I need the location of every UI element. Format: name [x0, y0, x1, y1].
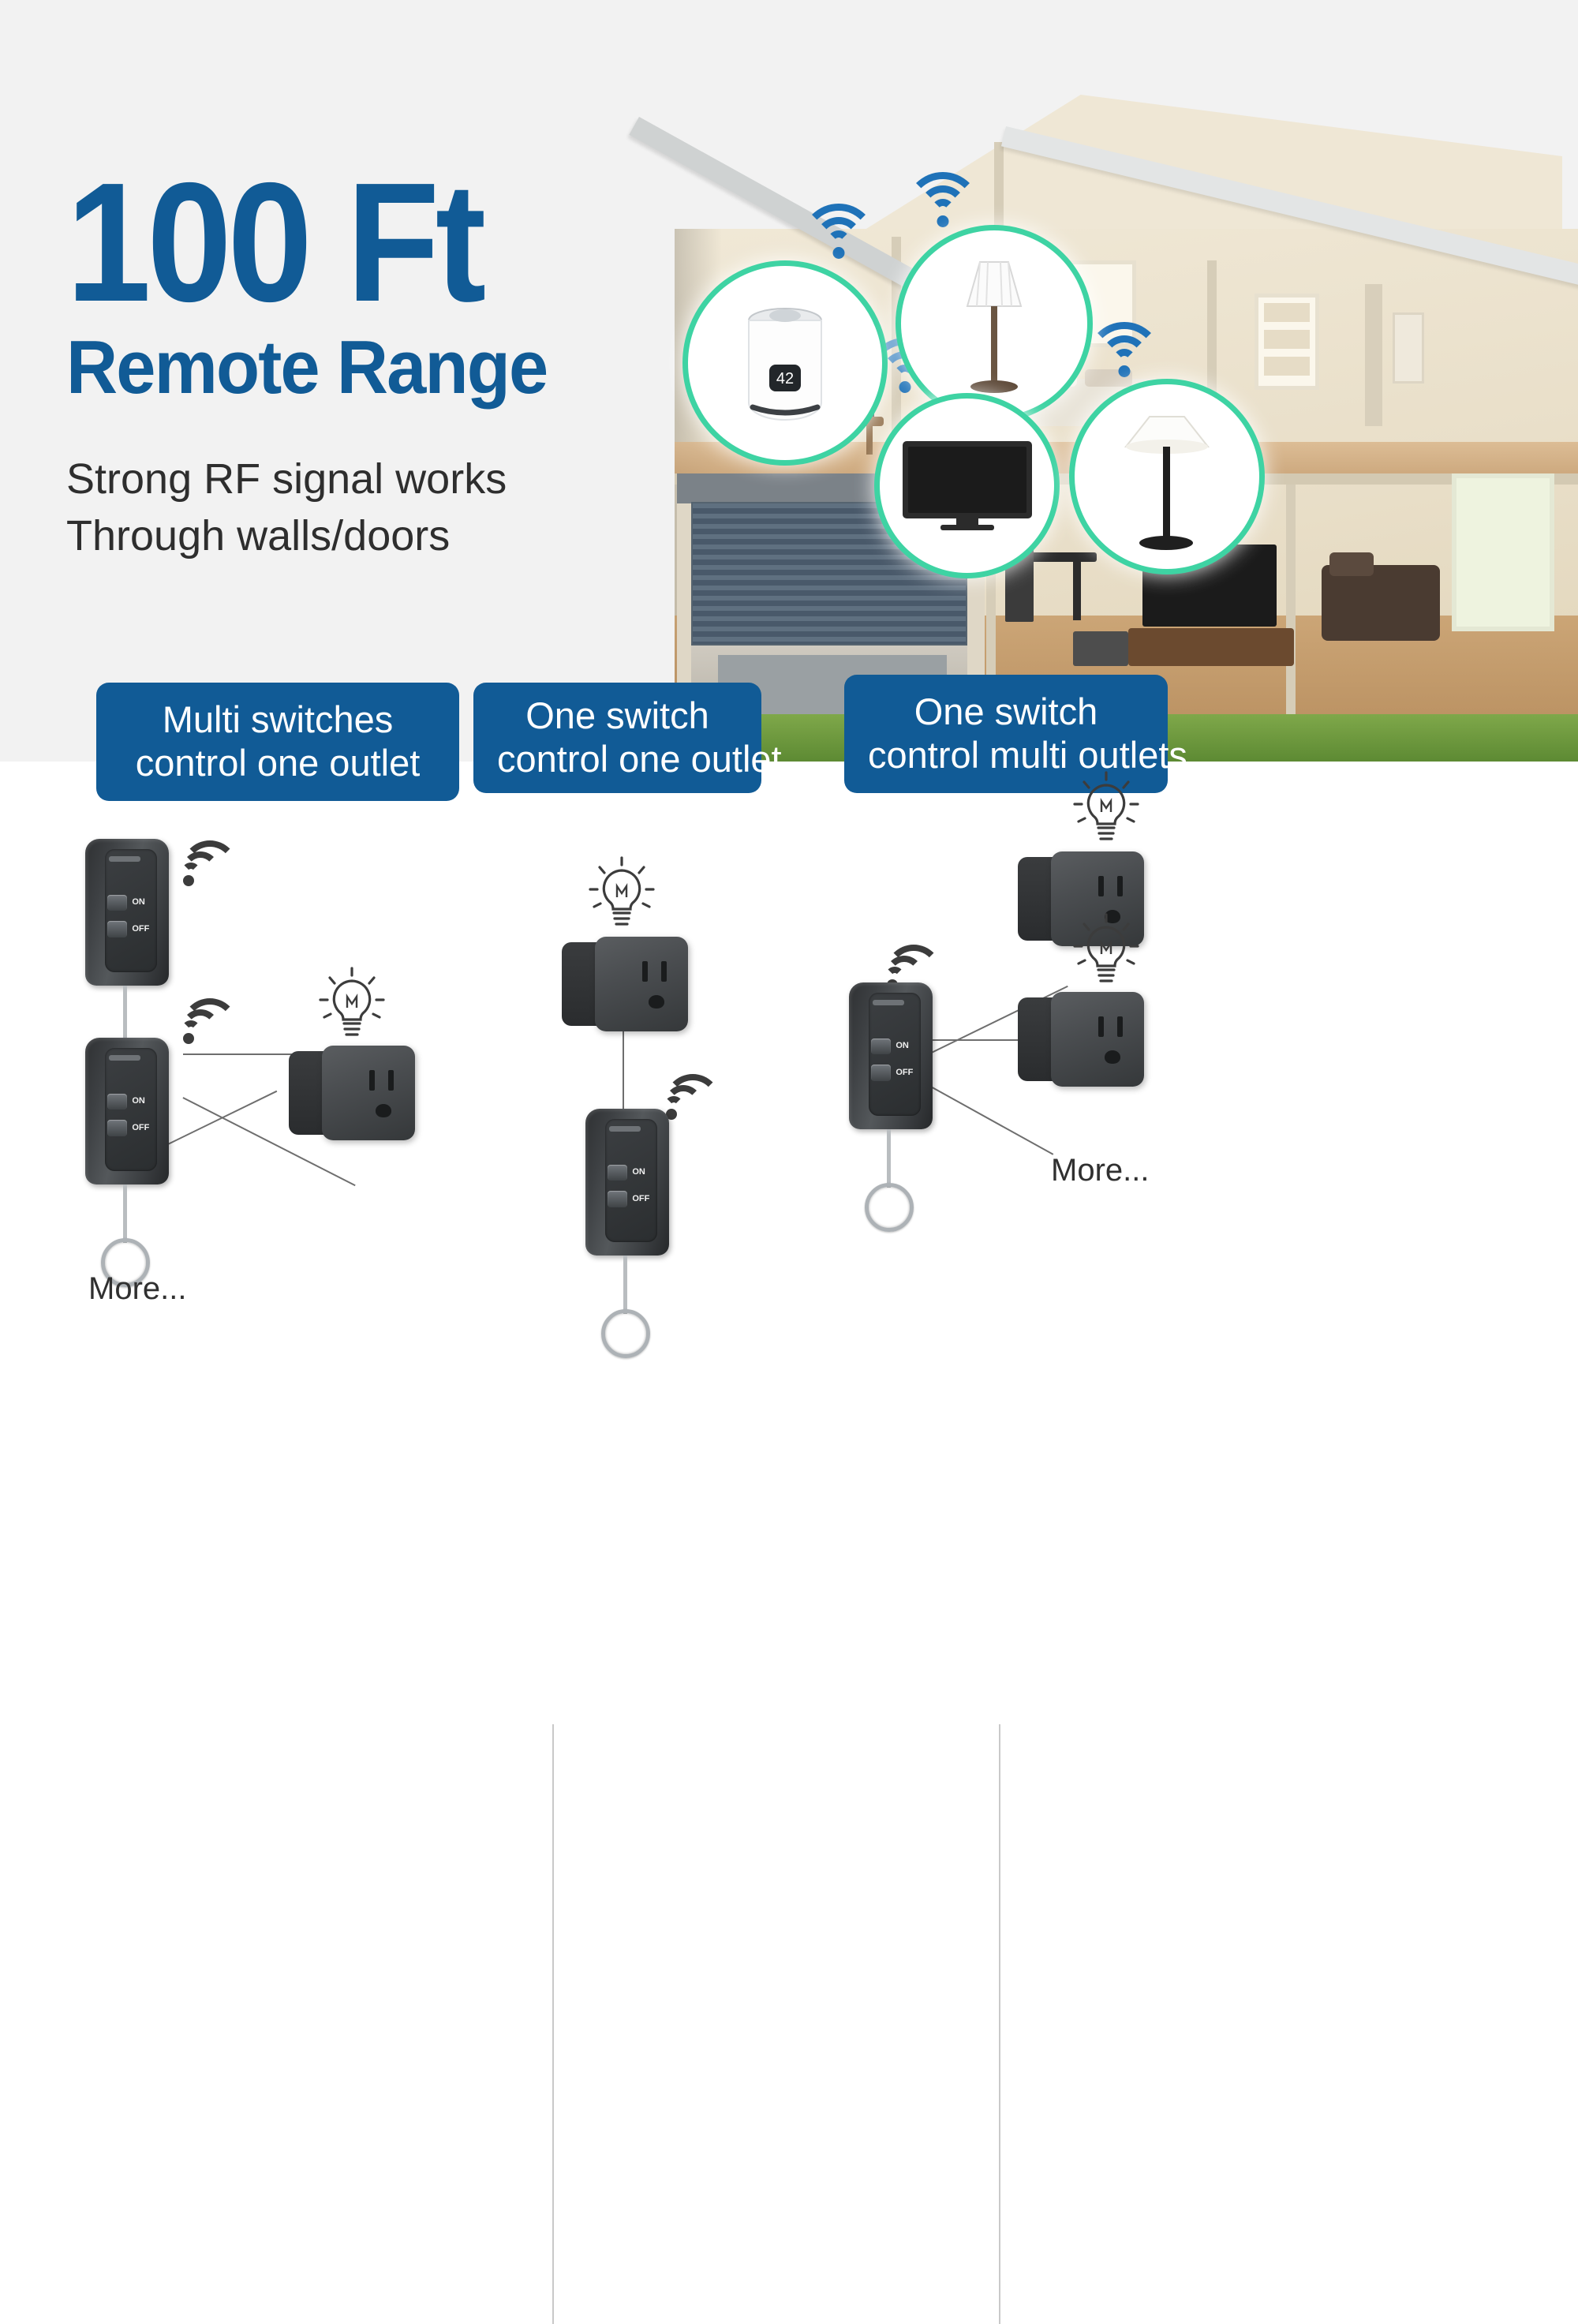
remote-on-label: ON	[896, 1041, 909, 1050]
smart-outlet-panel-3-b[interactable]	[1018, 992, 1144, 1087]
remote-on-button[interactable]	[107, 1094, 127, 1110]
remote-panel-3-keyring	[865, 1183, 914, 1232]
wifi-icon-remote-panel-2	[661, 1074, 721, 1120]
hero-body-copy: Strong RF signal works Through walls/doo…	[66, 451, 666, 565]
banner-line-1: One switch	[868, 690, 1144, 734]
smart-outlet-panel-1[interactable]	[289, 1046, 415, 1140]
remote-face	[869, 993, 921, 1116]
table-lamp-icon	[931, 245, 1057, 402]
feature-panels: Multi switches control one outlet ON OFF…	[0, 762, 1578, 1578]
bulb-icon-panel-2	[585, 855, 658, 939]
more-label-panel-1: More...	[88, 1271, 186, 1307]
sofa-cushion	[1329, 552, 1374, 576]
floor-lamp-bubble	[1069, 379, 1265, 574]
fireplace	[1073, 631, 1128, 666]
tv-bubble	[874, 393, 1060, 578]
interior-wall-5	[1286, 485, 1296, 721]
remote-face	[105, 849, 157, 972]
connector-remote-more	[915, 1077, 1054, 1155]
humidifier-bubble: 42	[682, 260, 888, 466]
hero-section: 42	[0, 0, 1578, 762]
remote-face	[105, 1048, 157, 1171]
window-pane-2	[1264, 330, 1310, 349]
wifi-icon-table-lamp	[899, 172, 986, 227]
remote-panel-2-keyring	[601, 1309, 650, 1358]
bulb-icon-panel-3-b	[1070, 911, 1142, 996]
remote-on-button[interactable]	[871, 1039, 891, 1054]
mirror	[1393, 312, 1424, 384]
bulb-icon-panel-3-a	[1070, 769, 1142, 854]
outlet-slot-left	[369, 1070, 375, 1091]
remote-off-label: OFF	[896, 1068, 913, 1077]
remote-control-2[interactable]: ON OFF	[85, 1038, 169, 1184]
smart-outlet-panel-2[interactable]	[562, 937, 688, 1031]
remote-on-label: ON	[632, 1167, 645, 1177]
sofa	[1322, 565, 1440, 641]
svg-text:42: 42	[776, 370, 794, 387]
wifi-icon-humidifier	[795, 204, 882, 259]
remote-on-label: ON	[132, 1096, 145, 1106]
remote-led-indicator	[109, 856, 140, 862]
wifi-icon-remote-2	[178, 998, 238, 1044]
remote-panel-2-chain	[623, 1256, 627, 1314]
banner-line-2: control one outlet	[497, 738, 738, 781]
remote-on-button[interactable]	[107, 895, 127, 911]
remote-off-button[interactable]	[871, 1065, 891, 1080]
tv-console	[1128, 628, 1294, 666]
remote-control-panel-2[interactable]: ON OFF	[585, 1109, 669, 1256]
remote-control-1[interactable]: ON OFF	[85, 839, 169, 986]
hero-text-block: 100 Ft Remote Range Strong RF signal wor…	[66, 170, 666, 565]
outlet-front-face	[1051, 992, 1144, 1087]
wifi-icon-floor-lamp	[1081, 322, 1168, 377]
outlet-slot-left	[1098, 876, 1104, 896]
outlet-slot-right	[661, 961, 667, 982]
wifi-icon-remote-1	[178, 840, 238, 886]
humidifier-icon: 42	[726, 292, 844, 434]
remote-off-label: OFF	[632, 1194, 649, 1203]
remote-face	[605, 1119, 657, 1242]
remote-panel-3-chain	[887, 1129, 891, 1188]
banner-line-1: One switch	[497, 694, 738, 738]
panel-divider-2	[999, 1724, 1000, 2324]
remote-led-indicator	[109, 1055, 140, 1061]
outlet-slot-right	[1117, 1016, 1123, 1037]
outlet-slot-left	[1098, 1016, 1104, 1037]
page-title: 100 Ft	[66, 170, 606, 316]
page-subtitle: Remote Range	[66, 330, 630, 406]
remote-off-button[interactable]	[107, 921, 127, 937]
floor-lamp-icon	[1096, 398, 1238, 556]
outlet-front-face	[322, 1046, 415, 1140]
outlet-slot-right	[1117, 876, 1123, 896]
dining-leg-2	[1073, 562, 1081, 620]
window-pane-3	[1264, 357, 1310, 376]
television-icon	[896, 435, 1038, 537]
remote-off-button[interactable]	[608, 1191, 627, 1207]
outlet-slot-left	[642, 961, 648, 982]
body-line-2: Through walls/doors	[66, 508, 666, 565]
living-room-window	[1452, 473, 1554, 631]
outlet-slot-right	[388, 1070, 394, 1091]
remote-1-chain	[123, 986, 127, 1044]
remote-on-label: ON	[132, 897, 145, 907]
panel-divider-1	[552, 1724, 554, 2324]
remote-led-indicator	[873, 1000, 904, 1005]
outlet-front-face	[595, 937, 688, 1031]
bulb-icon-panel-1	[316, 965, 388, 1050]
house-illustration: 42	[655, 0, 1578, 762]
body-line-1: Strong RF signal works	[66, 451, 666, 508]
door-frame	[1365, 284, 1382, 426]
remote-led-indicator	[609, 1126, 641, 1132]
remote-control-panel-3[interactable]: ON OFF	[849, 982, 933, 1129]
more-label-panel-3: More...	[1051, 1153, 1149, 1188]
banner-multi-switch-one-outlet: Multi switches control one outlet	[96, 683, 459, 801]
table-lamp-bubble	[896, 225, 1093, 422]
banner-one-switch-one-outlet: One switch control one outlet	[473, 683, 761, 793]
window-pane-1	[1264, 303, 1310, 322]
banner-line-1: Multi switches	[120, 698, 436, 742]
remote-off-label: OFF	[132, 1123, 149, 1132]
banner-line-2: control one outlet	[120, 742, 436, 785]
remote-off-label: OFF	[132, 924, 149, 934]
remote-off-button[interactable]	[107, 1120, 127, 1136]
remote-2-chain	[123, 1184, 127, 1243]
remote-on-button[interactable]	[608, 1165, 627, 1181]
table-leg-2	[866, 426, 873, 455]
